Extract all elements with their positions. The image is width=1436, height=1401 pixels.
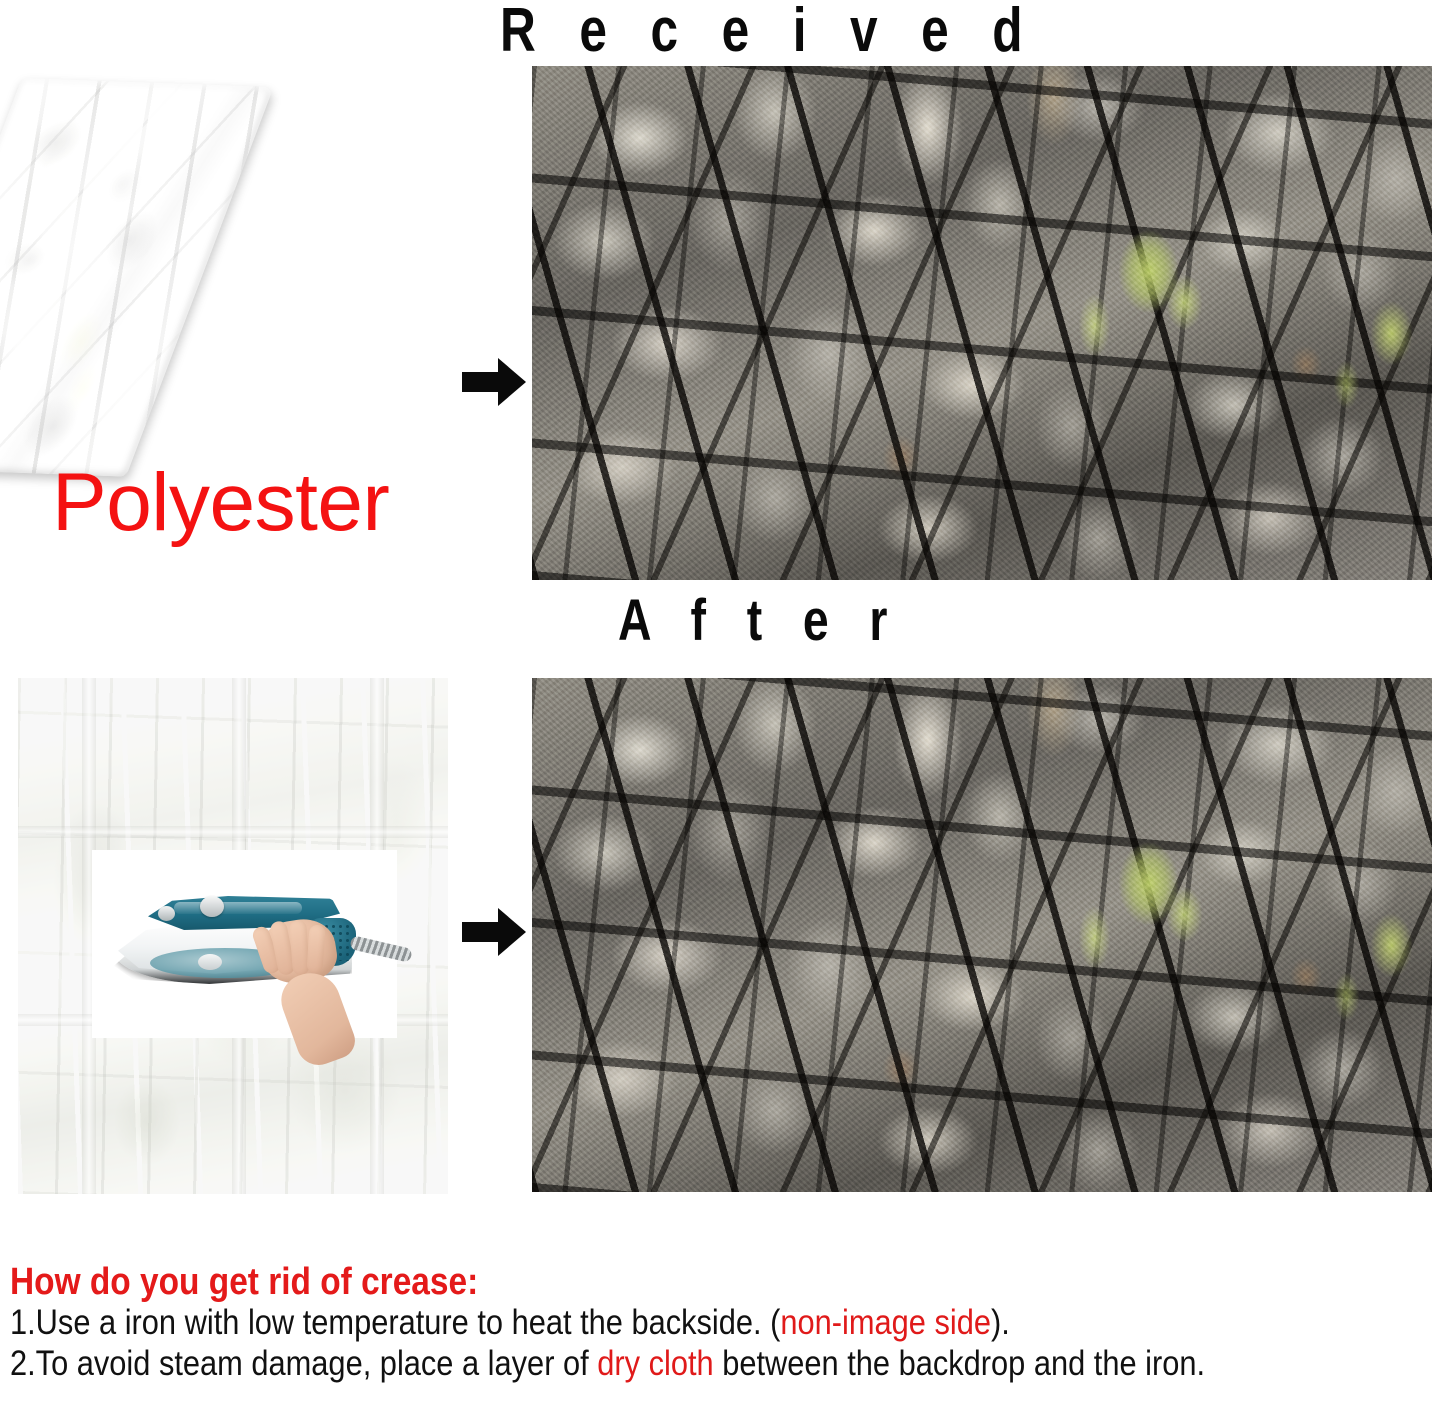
infographic-canvas: R e c e i v e d Polyester A f t e r [0,0,1436,1401]
right-arrow-icon [462,358,530,406]
iron-steam-button [200,896,224,917]
received-heading: R e c e i v e d [500,0,1037,62]
rock-texture [532,66,1432,580]
instruction-2-pre: 2.To avoid steam damage, place a layer o… [10,1344,597,1383]
instruction-1-pre: 1.Use a iron with low temperature to hea… [10,1303,780,1342]
instruction-line-2: 2.To avoid steam damage, place a layer o… [10,1344,1260,1385]
arrow-head [498,908,526,956]
right-arrow-icon [462,908,530,956]
arrow-head [498,358,526,406]
arrow-shaft [462,922,502,942]
iron-handle-highlight [174,902,302,914]
instruction-1-post: ). [991,1303,1010,1342]
instruction-line-1: 1.Use a iron with low temperature to hea… [10,1303,1260,1344]
iron-spray-button [158,906,175,921]
iron-product-photo [92,850,397,1038]
section-divider [0,1252,1436,1253]
arrow-shaft [462,372,502,392]
instruction-1-highlight: non-image side [780,1303,991,1342]
folded-polyester-fabric [22,78,422,478]
received-rock-photo [532,66,1432,580]
fabric-edge-shading [0,78,274,477]
after-rock-photo [532,678,1432,1192]
polyester-label: Polyester [52,462,389,544]
rock-texture [532,678,1432,1192]
instructions-heading: How do you get rid of crease: [10,1262,1260,1303]
after-heading: A f t e r [618,592,901,650]
hand-finger [306,925,325,974]
hand-illustration [252,920,356,1048]
instruction-2-post: between the backdrop and the iron. [714,1344,1205,1383]
instructions-block: How do you get rid of crease: 1.Use a ir… [10,1262,1430,1385]
iron-temperature-knob [198,954,222,970]
instruction-2-highlight: dry cloth [597,1344,713,1383]
